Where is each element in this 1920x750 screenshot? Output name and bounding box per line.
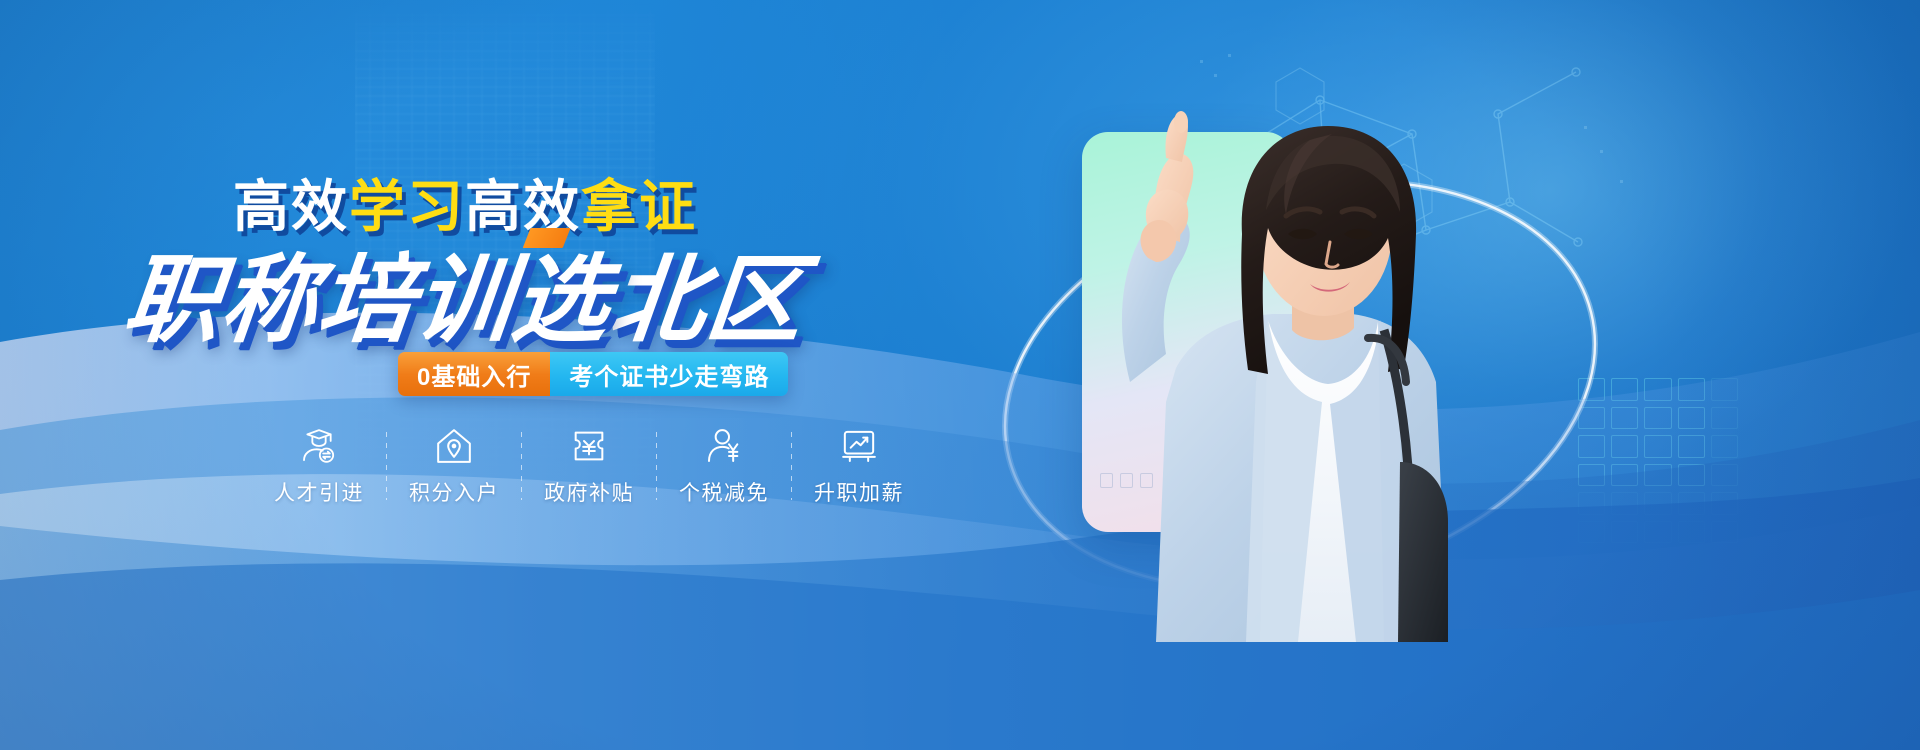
headline-block: 高效学习高效拿证 职称培训选北区 0基础入行 考个证书少走弯路: [0, 0, 1000, 750]
home-location-icon: [434, 426, 474, 466]
square-grid-pattern: [1578, 378, 1738, 543]
headline-main-before: 职称培训: [119, 247, 518, 354]
feature-row: 人才引进 积分入户: [252, 426, 926, 507]
tagline-badge: 0基础入行 考个证书少走弯路: [398, 352, 788, 396]
feature-item-points-residence[interactable]: 积分入户: [387, 426, 521, 507]
person-yuan-icon: [704, 426, 744, 466]
feature-item-tax-reduction[interactable]: 个税减免: [657, 426, 791, 507]
badge-left-label: 0基础入行: [398, 352, 550, 396]
feature-label: 个税减免: [679, 477, 769, 507]
badge-right-label: 考个证书少走弯路: [550, 352, 788, 396]
feature-item-talent-intro[interactable]: 人才引进: [252, 426, 386, 507]
feature-label: 升职加薪: [814, 477, 904, 507]
model-photo: [980, 82, 1500, 642]
feature-item-government-subsidy[interactable]: 政府补贴: [522, 426, 656, 507]
growth-chart-icon: [839, 426, 879, 466]
headline-main-accent-char: 选: [506, 222, 618, 361]
promo-banner: 高效学习高效拿证 职称培训选北区 0基础入行 考个证书少走弯路: [0, 0, 1920, 750]
feature-item-promotion-raise[interactable]: 升职加薪: [792, 426, 926, 507]
feature-label: 人才引进: [274, 477, 364, 507]
headline-main: 职称培训选北区: [0, 222, 937, 361]
feature-label: 积分入户: [409, 477, 499, 507]
feature-label: 政府补贴: [544, 477, 634, 507]
headline-main-after: 北区: [604, 247, 809, 354]
graduate-person-icon: [299, 426, 339, 466]
ticket-yuan-icon: [569, 426, 609, 466]
